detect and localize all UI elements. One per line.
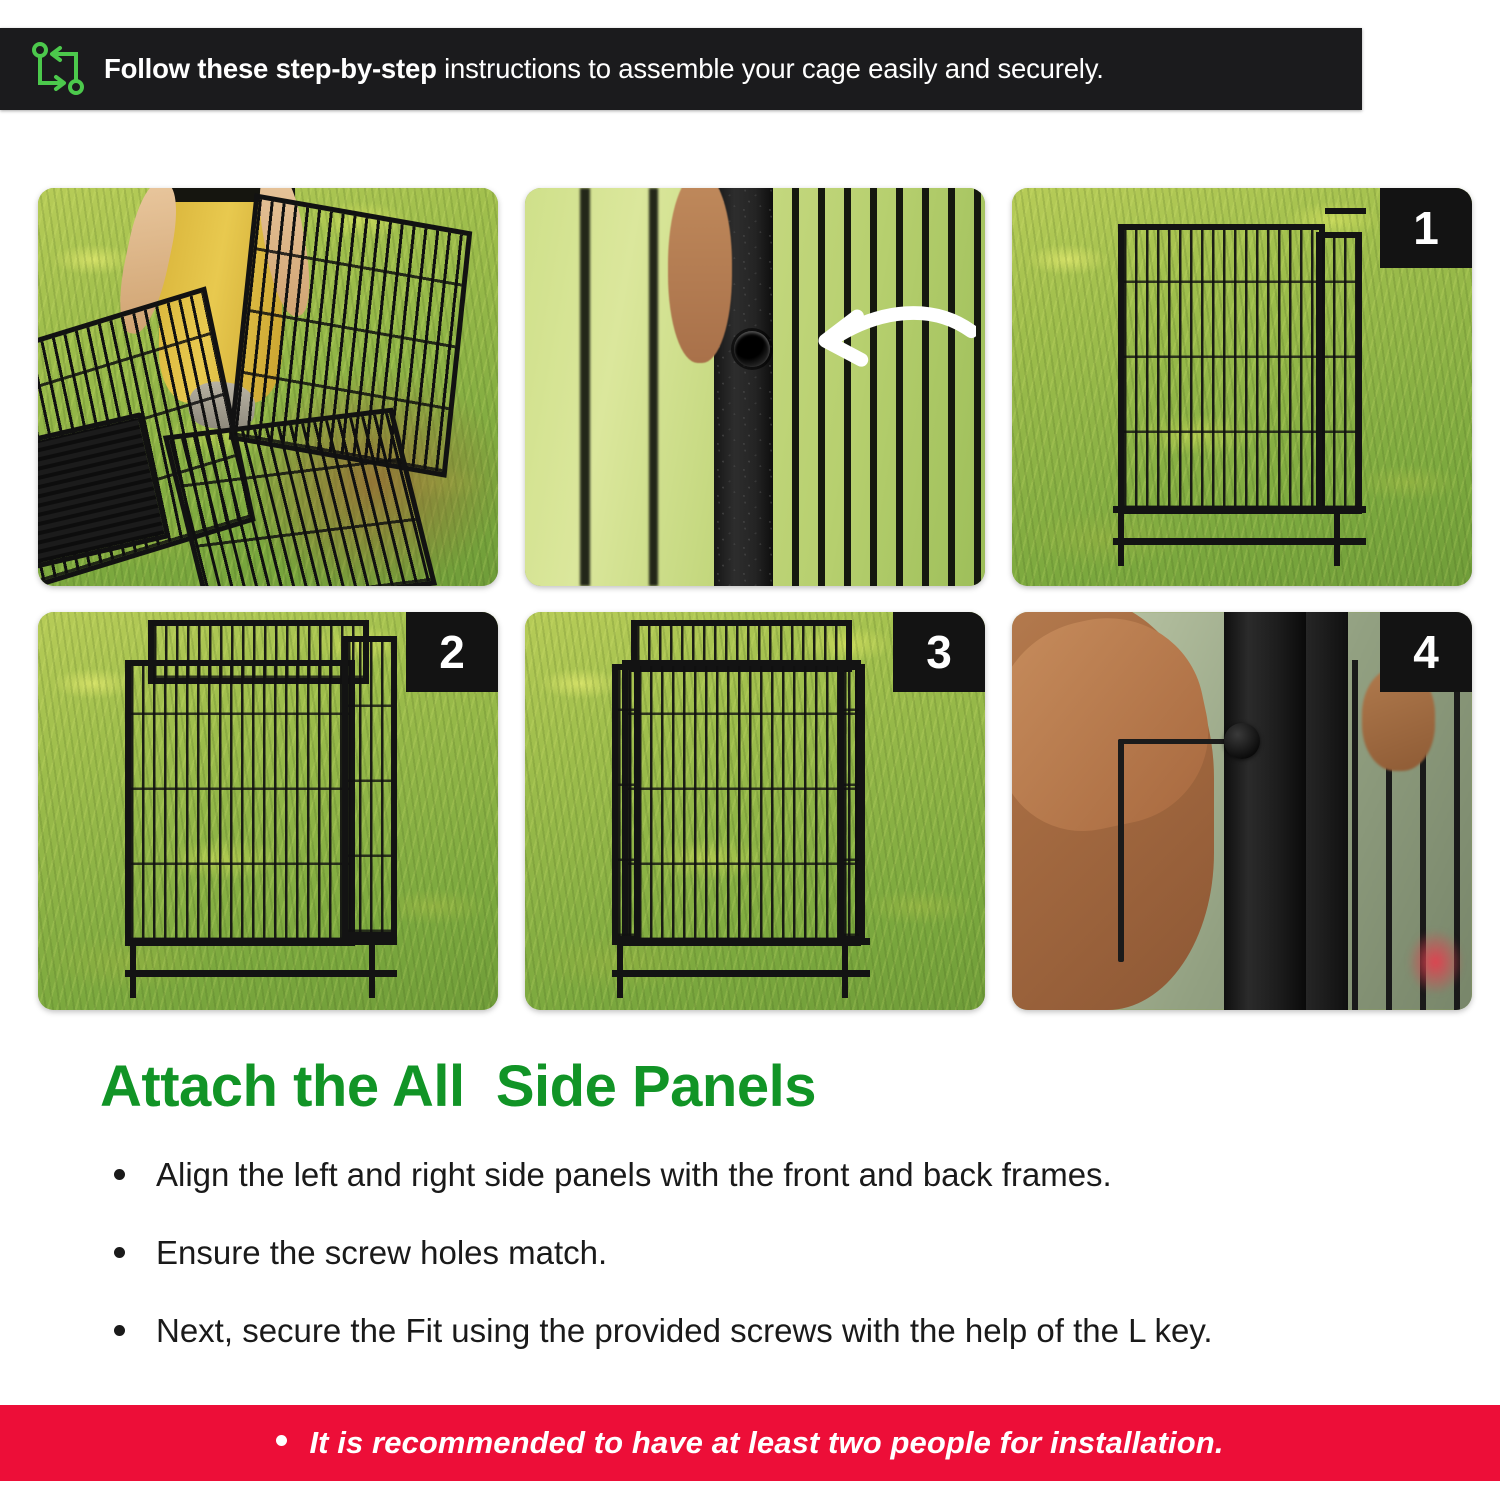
- l-key-shaft: [1118, 739, 1124, 962]
- header-banner: Follow these step-by-step instructions t…: [0, 28, 1362, 110]
- l-key-tool: [1118, 739, 1238, 744]
- bullet-dot-icon: [114, 1247, 125, 1258]
- list-item: Ensure the screw holes match.: [100, 1236, 1430, 1269]
- footer-banner: It is recommended to have at least two p…: [0, 1405, 1500, 1481]
- bullet-dot-icon: [276, 1435, 287, 1446]
- red-blur: [1408, 930, 1463, 994]
- finger: [668, 188, 732, 363]
- photo-grid: 1 2 3: [38, 188, 1466, 1010]
- header-instruction-text: Follow these step-by-step instructions t…: [104, 53, 1104, 85]
- cage-post-secondary: [1306, 612, 1347, 1010]
- wire-panel-bottom: [163, 407, 437, 586]
- photo-panels-unpacked: [38, 188, 498, 586]
- bullet-dot-icon: [114, 1169, 125, 1180]
- header-text-rest: instructions to assemble your cage easil…: [437, 53, 1104, 84]
- photo-step-1-front-panel: 1: [1012, 188, 1472, 586]
- footer-warning-label: It is recommended to have at least two p…: [309, 1425, 1223, 1460]
- step-badge: 4: [1380, 612, 1472, 692]
- cage-post: [1224, 612, 1307, 1010]
- step-badge: 3: [893, 612, 985, 692]
- list-item: Align the left and right side panels wit…: [100, 1158, 1430, 1191]
- photo-step-2-two-panels: 2: [38, 612, 498, 1010]
- list-item: Next, secure the Fit using the provided …: [100, 1314, 1430, 1347]
- bullet-dot-icon: [114, 1325, 125, 1336]
- list-item-label: Align the left and right side panels wit…: [156, 1156, 1112, 1193]
- photo-step-3-all-panels: 3: [525, 612, 985, 1010]
- list-item-label: Ensure the screw holes match.: [156, 1234, 607, 1271]
- photo-screw-hole-closeup: [525, 188, 985, 586]
- steps-workflow-icon: [26, 37, 90, 101]
- step-badge: 2: [406, 612, 498, 692]
- list-item-label: Next, secure the Fit using the provided …: [156, 1312, 1213, 1349]
- footer-warning-text: It is recommended to have at least two p…: [276, 1425, 1223, 1461]
- pointer-arrow-icon: [764, 276, 976, 403]
- header-text-bold: Follow these step-by-step: [104, 53, 437, 84]
- screw: [1224, 723, 1260, 759]
- photo-step-4-tighten-screw: 4: [1012, 612, 1472, 1010]
- section-heading: Attach the All Side Panels: [100, 1058, 816, 1116]
- instruction-list: Align the left and right side panels wit…: [100, 1158, 1430, 1392]
- step-badge: 1: [1380, 188, 1472, 268]
